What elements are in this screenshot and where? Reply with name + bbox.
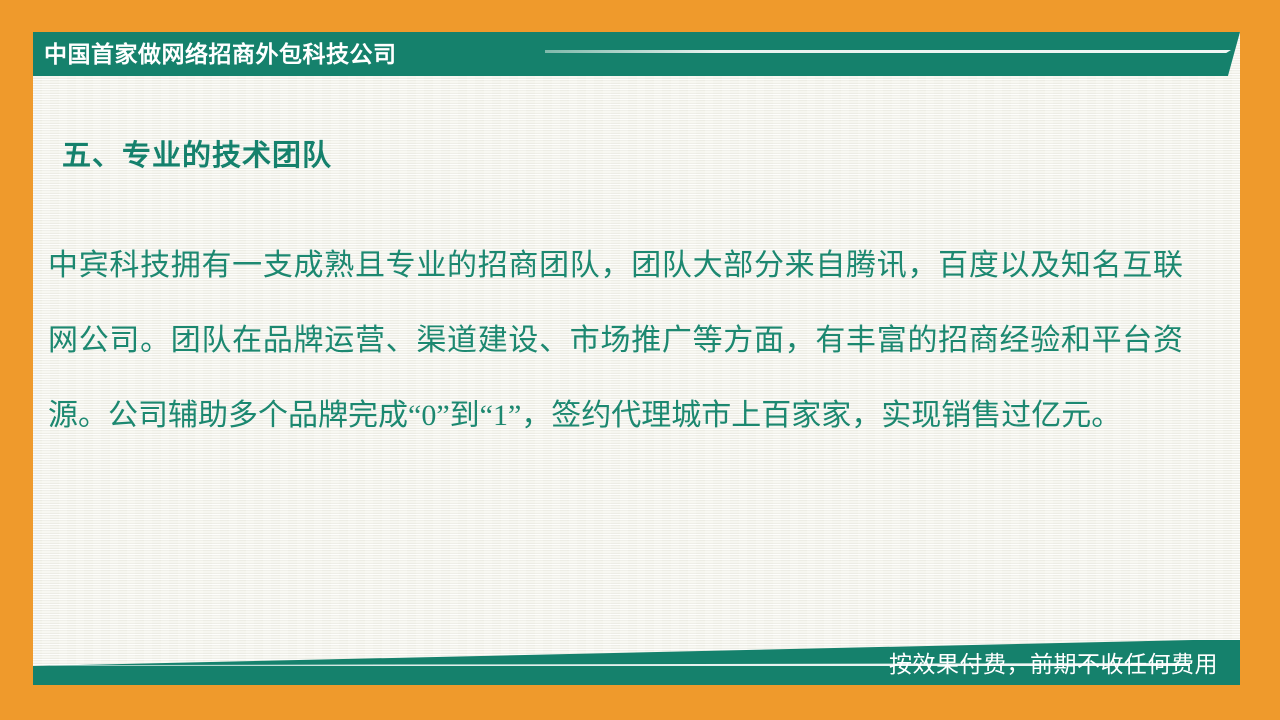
bottom-orange-strip: [0, 685, 1280, 720]
body-paragraph: 中宾科技拥有一支成熟且专业的招商团队，团队大部分来自腾讯，百度以及知名互联网公司…: [48, 228, 1183, 453]
body-text-block: 中宾科技拥有一支成熟且专业的招商团队，团队大部分来自腾讯，百度以及知名互联网公司…: [48, 228, 1183, 453]
header-accent-line: [545, 50, 1231, 53]
left-orange-border: [0, 0, 33, 720]
top-orange-strip: [0, 0, 1280, 32]
section-heading: 五、专业的技术团队: [62, 132, 332, 174]
footer-tagline: 按效果付费，前期不收任何费用: [889, 644, 1218, 684]
header-title: 中国首家做网络招商外包科技公司: [44, 32, 397, 76]
slide-canvas: 中国首家做网络招商外包科技公司 五、专业的技术团队 中宾科技拥有一支成熟且专业的…: [0, 0, 1280, 720]
right-orange-border: [1240, 0, 1280, 720]
